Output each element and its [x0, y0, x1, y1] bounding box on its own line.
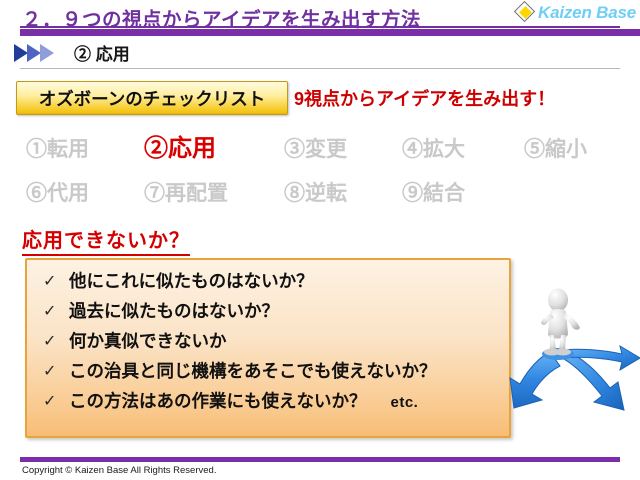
viewpoint-item-6: ⑥代用 — [26, 174, 89, 214]
viewpoints-row-1: ①転用 ②応用 ③変更 ④拡大 ⑤縮小 — [18, 130, 622, 174]
etc-label: etc. — [391, 394, 419, 411]
list-item-label: 過去に似たものはないか？ — [69, 298, 499, 325]
list-item-label: この方法はあの作業にも使えないか？etc. — [69, 388, 499, 416]
viewpoint-item-8: ⑧逆転 — [284, 174, 347, 214]
list-item: ✓ 他にこれに似たものはないか？ — [43, 268, 499, 296]
check-icon: ✓ — [43, 298, 69, 326]
list-item: ✓ この方法はあの作業にも使えないか？etc. — [43, 388, 499, 416]
checklist-title-box: オズボーンのチェックリスト — [16, 81, 288, 115]
logo-text: Kaizen Base — [538, 3, 636, 23]
list-item-label: この治具と同じ機構をあそこでも使えないか？ — [69, 358, 499, 385]
viewpoint-item-1: ①転用 — [26, 130, 89, 170]
copyright-notice: Copyright © Kaizen Base All Rights Reser… — [22, 465, 216, 476]
branching-arrows-svg — [508, 288, 640, 448]
person-on-branching-arrows-illustration — [508, 288, 640, 448]
checklist-title-label: オズボーンのチェックリスト — [39, 86, 266, 111]
list-item: ✓ 過去に似たものはないか？ — [43, 298, 499, 326]
viewpoint-item-3: ③変更 — [284, 130, 347, 170]
triple-chevron-right-icon — [14, 44, 68, 62]
brand-logo: Kaizen Base — [516, 1, 636, 25]
viewpoints-grid: ①転用 ②応用 ③変更 ④拡大 ⑤縮小 ⑥代用 ⑦再配置 ⑧逆転 ⑨結合 — [18, 130, 622, 220]
list-item-label: 他にこれに似たものはないか？ — [69, 268, 499, 295]
viewpoint-item-9: ⑨結合 — [402, 174, 465, 214]
list-item-text: この方法はあの作業にも使えないか？ — [69, 391, 367, 411]
viewpoint-item-2: ②応用 — [144, 130, 216, 168]
slide-header: ２．９つの視点からアイデアを生み出す方法 Kaizen Base — [0, 0, 640, 34]
diamond-icon — [516, 3, 536, 23]
viewpoint-item-4: ④拡大 — [402, 130, 465, 170]
check-icon: ✓ — [43, 358, 69, 386]
header-accent-bar — [20, 29, 640, 36]
viewpoint-item-5: ⑤縮小 — [524, 130, 587, 170]
viewpoint-item-7: ⑦再配置 — [144, 174, 228, 214]
check-icon: ✓ — [43, 328, 69, 356]
question-heading: 応用できないか？ — [22, 224, 190, 256]
title-underline — [20, 26, 620, 28]
list-item: ✓ 何か真似できないか — [43, 328, 499, 356]
checklist-tagline: 9視点からアイデアを生み出す！ — [294, 85, 555, 111]
viewpoints-row-2: ⑥代用 ⑦再配置 ⑧逆転 ⑨結合 — [18, 174, 622, 218]
slide-canvas: ２．９つの視点からアイデアを生み出す方法 Kaizen Base ② 応用 オズ… — [0, 0, 640, 480]
check-icon: ✓ — [43, 388, 69, 416]
list-item: ✓ この治具と同じ機構をあそこでも使えないか？ — [43, 358, 499, 386]
checklist-content-box: ✓ 他にこれに似たものはないか？ ✓ 過去に似たものはないか？ ✓ 何か真似でき… — [25, 258, 511, 438]
check-icon: ✓ — [43, 268, 69, 296]
section-label: ② 応用 — [74, 40, 130, 65]
footer-accent-bar — [20, 457, 620, 462]
person-figure — [541, 289, 580, 356]
subheader-divider — [20, 68, 620, 69]
section-subheader: ② 応用 — [0, 40, 640, 70]
list-item-label: 何か真似できないか — [69, 328, 499, 355]
